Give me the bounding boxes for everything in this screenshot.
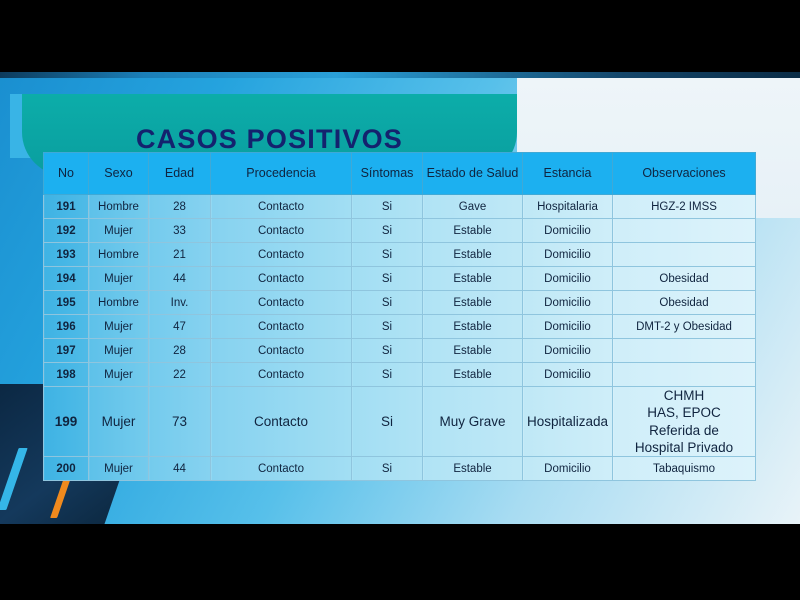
cell-no: 200 [44,457,89,481]
column-header-edad: Edad [149,153,211,195]
cell-procedencia: Contacto [211,219,352,243]
cell-estancia: Domicilio [523,363,613,387]
column-header-estancia: Estancia [523,153,613,195]
cell-estancia: Hospitalaria [523,195,613,219]
cell-sintomas: Si [352,457,423,481]
cell-estancia: Domicilio [523,315,613,339]
screenshot-root: CASOS POSITIVOS NoSexoEdadProcedenciaSín… [0,0,800,600]
cell-estado: Muy Grave [423,387,523,457]
cell-procedencia: Contacto [211,315,352,339]
column-header-procedencia: Procedencia [211,153,352,195]
cell-sexo: Mujer [89,339,149,363]
table-row: 193Hombre21ContactoSiEstableDomicilio [44,243,756,267]
cell-estado: Estable [423,291,523,315]
cell-edad: 44 [149,457,211,481]
table-row: 197Mujer28ContactoSiEstableDomicilio [44,339,756,363]
cell-sexo: Hombre [89,291,149,315]
cell-sintomas: Si [352,219,423,243]
cell-sintomas: Si [352,315,423,339]
cell-sintomas: Si [352,363,423,387]
column-header-estado: Estado de Salud [423,153,523,195]
cell-no: 195 [44,291,89,315]
cell-edad: 22 [149,363,211,387]
cell-no: 191 [44,195,89,219]
presentation-slide: CASOS POSITIVOS NoSexoEdadProcedenciaSín… [0,72,800,524]
cell-no: 193 [44,243,89,267]
cell-sexo: Mujer [89,219,149,243]
cell-edad: 28 [149,339,211,363]
table-row: 192Mujer33ContactoSiEstableDomicilio [44,219,756,243]
cell-estado: Estable [423,243,523,267]
cell-sexo: Mujer [89,315,149,339]
cell-no: 198 [44,363,89,387]
cell-observaciones [613,219,756,243]
positive-cases-table: NoSexoEdadProcedenciaSíntomasEstado de S… [43,152,756,481]
cell-estancia: Domicilio [523,291,613,315]
cell-procedencia: Contacto [211,291,352,315]
table-row: 191Hombre28ContactoSiGaveHospitalariaHGZ… [44,195,756,219]
cell-sintomas: Si [352,243,423,267]
cell-edad: 28 [149,195,211,219]
letterbox-bottom [0,524,800,600]
cell-sexo: Hombre [89,195,149,219]
cell-procedencia: Contacto [211,339,352,363]
obs-line: HAS, EPOC [615,404,753,421]
cell-no: 196 [44,315,89,339]
cell-sintomas: Si [352,387,423,457]
obs-line: CHMH [615,387,753,404]
cell-procedencia: Contacto [211,267,352,291]
table-row: 198Mujer22ContactoSiEstableDomicilio [44,363,756,387]
cell-observaciones: Tabaquismo [613,457,756,481]
cell-sintomas: Si [352,291,423,315]
cell-procedencia: Contacto [211,243,352,267]
cell-estancia: Domicilio [523,243,613,267]
cell-estancia: Domicilio [523,267,613,291]
cell-observaciones [613,243,756,267]
cell-observaciones: Obesidad [613,267,756,291]
cell-edad: 21 [149,243,211,267]
cell-sexo: Mujer [89,267,149,291]
cell-no: 192 [44,219,89,243]
cell-estado: Estable [423,267,523,291]
cell-observaciones: CHMHHAS, EPOCReferida deHospital Privado [613,387,756,457]
obs-line: Referida de [615,422,753,439]
cell-sexo: Mujer [89,387,149,457]
table-row: 199Mujer73ContactoSiMuy GraveHospitaliza… [44,387,756,457]
cell-edad: Inv. [149,291,211,315]
cell-no: 197 [44,339,89,363]
cell-estado: Estable [423,339,523,363]
page-title: CASOS POSITIVOS [22,124,517,155]
cell-observaciones: HGZ-2 IMSS [613,195,756,219]
cell-edad: 44 [149,267,211,291]
cell-sexo: Mujer [89,363,149,387]
table-row: 195HombreInv.ContactoSiEstableDomicilioO… [44,291,756,315]
cell-observaciones: Obesidad [613,291,756,315]
table-head: NoSexoEdadProcedenciaSíntomasEstado de S… [44,153,756,195]
cell-estancia: Domicilio [523,339,613,363]
cell-sintomas: Si [352,339,423,363]
table-row: 196Mujer47ContactoSiEstableDomicilioDMT-… [44,315,756,339]
cases-table-container: NoSexoEdadProcedenciaSíntomasEstado de S… [43,152,755,481]
cell-edad: 47 [149,315,211,339]
cell-procedencia: Contacto [211,387,352,457]
cell-observaciones [613,339,756,363]
obs-line: Hospital Privado [615,439,753,456]
cell-estancia: Domicilio [523,219,613,243]
table-header-row: NoSexoEdadProcedenciaSíntomasEstado de S… [44,153,756,195]
cell-sintomas: Si [352,267,423,291]
table-row: 194Mujer44ContactoSiEstableDomicilioObes… [44,267,756,291]
cell-observaciones: DMT-2 y Obesidad [613,315,756,339]
column-header-sexo: Sexo [89,153,149,195]
table-row: 200Mujer44ContactoSiEstableDomicilioTaba… [44,457,756,481]
cell-sexo: Mujer [89,457,149,481]
cell-estado: Estable [423,363,523,387]
cell-estado: Estable [423,315,523,339]
cell-procedencia: Contacto [211,195,352,219]
cell-procedencia: Contacto [211,457,352,481]
cell-estancia: Hospitalizada [523,387,613,457]
column-header-no: No [44,153,89,195]
cell-procedencia: Contacto [211,363,352,387]
cell-edad: 33 [149,219,211,243]
column-header-sintomas: Síntomas [352,153,423,195]
cell-estancia: Domicilio [523,457,613,481]
cell-observaciones [613,363,756,387]
letterbox-top [0,0,800,72]
cell-no: 194 [44,267,89,291]
table-body: 191Hombre28ContactoSiGaveHospitalariaHGZ… [44,195,756,481]
cell-no: 199 [44,387,89,457]
cell-sexo: Hombre [89,243,149,267]
cell-estado: Estable [423,219,523,243]
column-header-observaciones: Observaciones [613,153,756,195]
cell-estado: Estable [423,457,523,481]
cell-sintomas: Si [352,195,423,219]
cell-estado: Gave [423,195,523,219]
cell-edad: 73 [149,387,211,457]
